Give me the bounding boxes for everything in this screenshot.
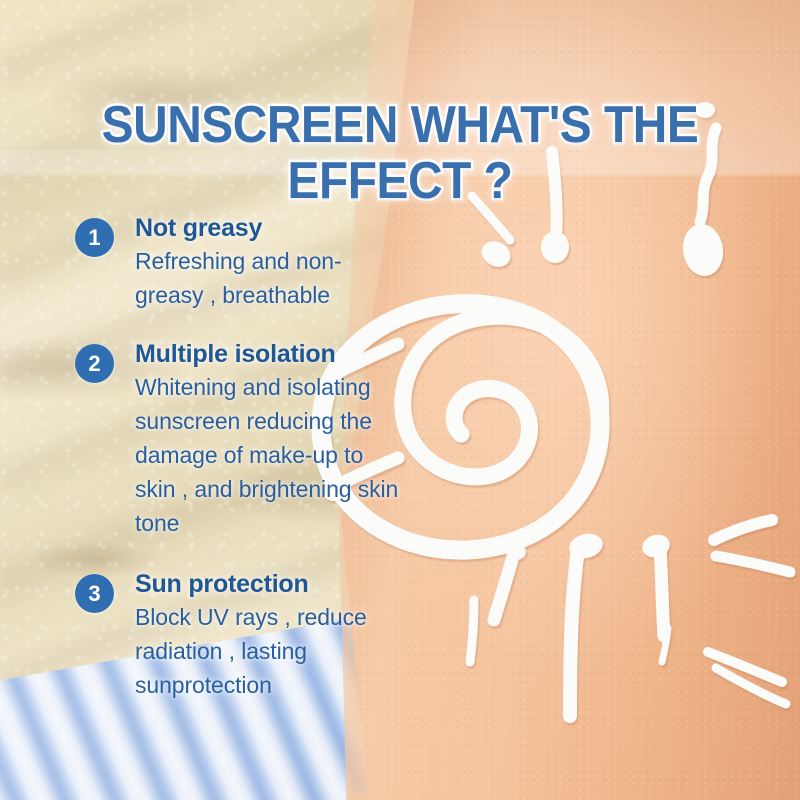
page-title-line-2: EFFECT ?	[69, 153, 731, 209]
feature-list: 1 Not greasy Refreshing and non-greasy ,…	[75, 214, 405, 702]
feature-number-badge-3: 3	[75, 574, 114, 613]
feature-body-3: Block UV rays , reduce radiation , lasti…	[135, 600, 405, 702]
feature-number-badge-1: 1	[75, 218, 114, 257]
page-title: SUNSCREEN WHAT'S THE EFFECT ?	[69, 97, 731, 209]
feature-item-sun-protection: 3 Sun protection Block UV rays , reduce …	[75, 570, 405, 702]
feature-title-3: Sun protection	[135, 570, 405, 598]
feature-body-1: Refreshing and non-greasy , breathable	[135, 244, 405, 312]
feature-number-badge-2: 2	[75, 344, 114, 383]
feature-item-multiple-isolation: 2 Multiple isolation Whitening and isola…	[75, 340, 405, 540]
poster-canvas: SUNSCREEN WHAT'S THE EFFECT ? 1 Not grea…	[0, 0, 800, 800]
feature-body-2: Whitening and isolating sunscreen reduci…	[135, 370, 405, 540]
feature-item-not-greasy: 1 Not greasy Refreshing and non-greasy ,…	[75, 214, 405, 312]
feature-title-2: Multiple isolation	[135, 340, 405, 368]
page-title-line-1: SUNSCREEN WHAT'S THE	[102, 96, 699, 154]
feature-title-1: Not greasy	[135, 214, 405, 242]
